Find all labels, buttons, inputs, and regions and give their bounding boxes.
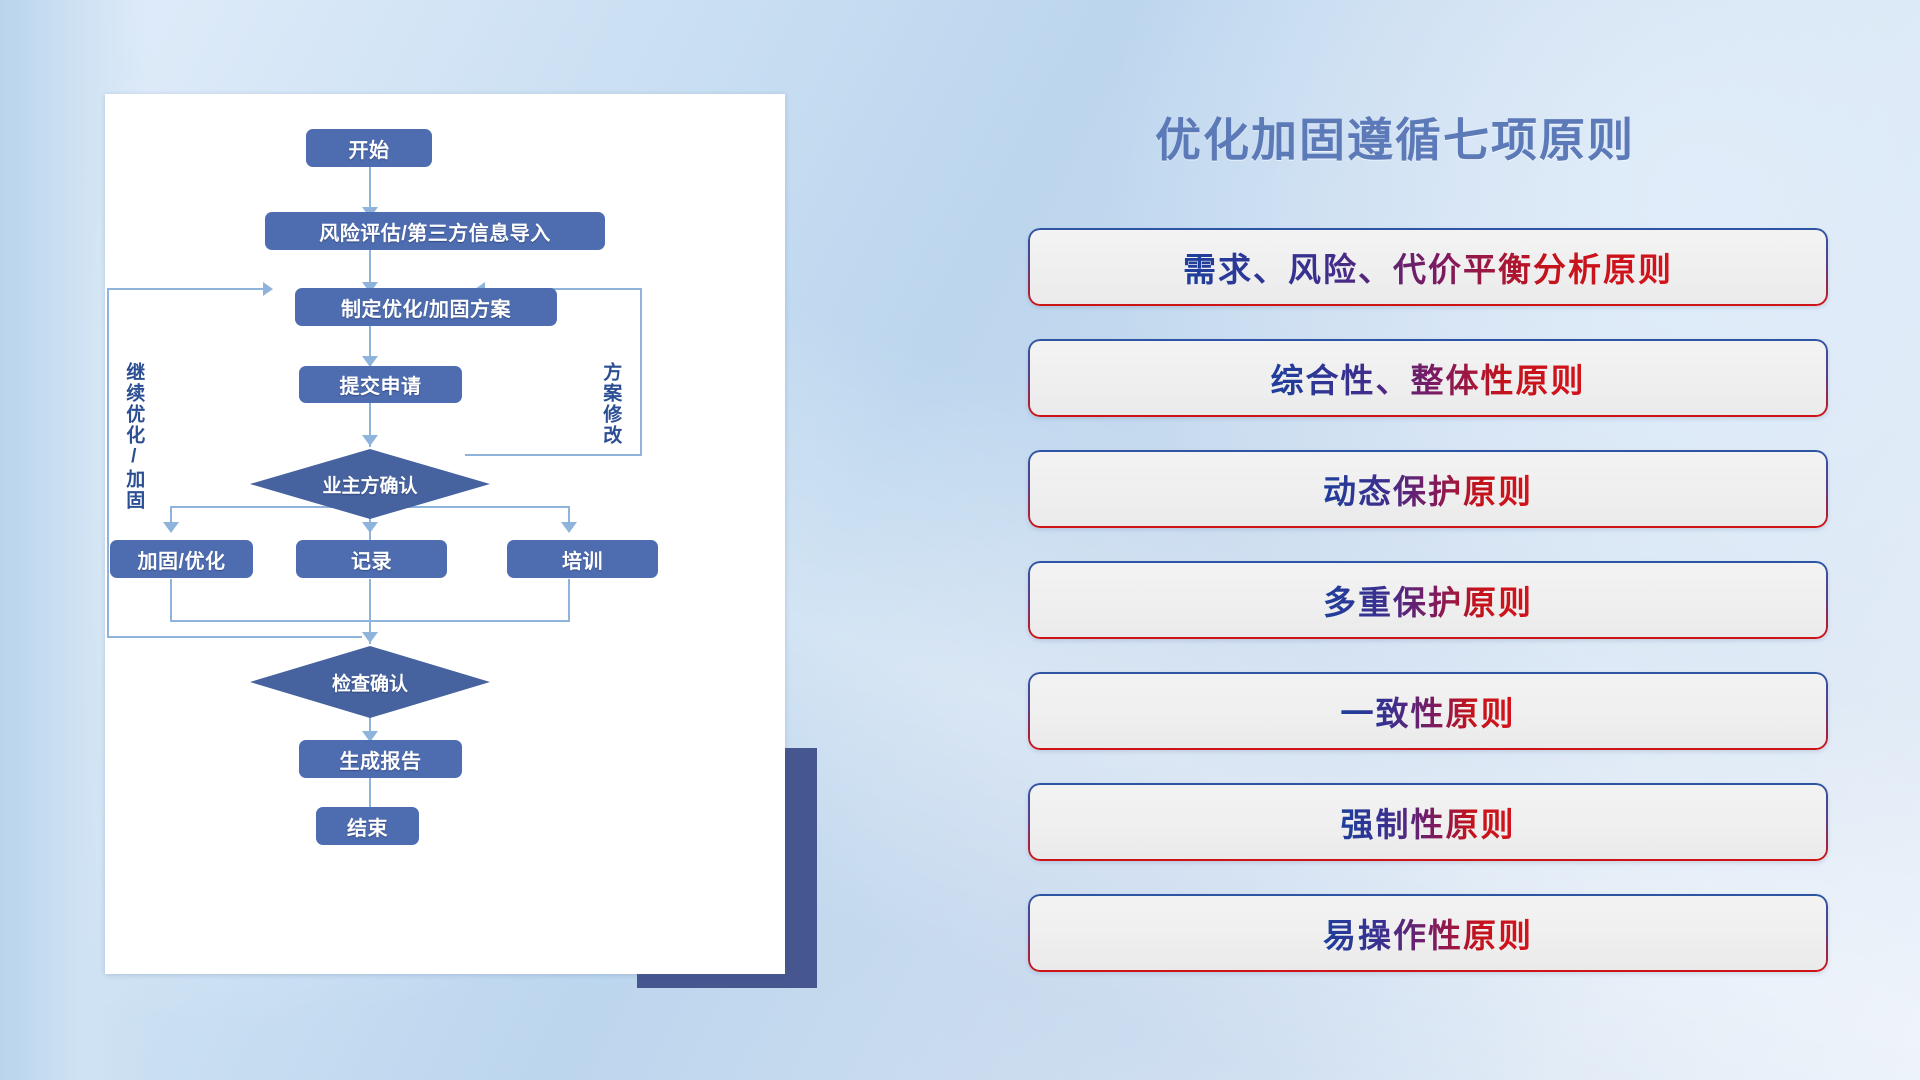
flow-node-label: 加固/优化 — [137, 545, 225, 574]
principle-label: 综合性、整体性原则 — [1271, 354, 1586, 402]
flow-node-label: 制定优化/加固方案 — [341, 293, 511, 322]
edge-label-continue-optimize: 继续优化/加固 — [123, 362, 144, 511]
flowchart: 开始 风险评估/第三方信息导入 制定优化/加固方案 提交申请 业主方确认 加固/… — [105, 94, 785, 974]
arrowhead-train — [561, 522, 577, 533]
flow-node-label: 记录 — [351, 545, 392, 574]
flow-node-training[interactable]: 培训 — [507, 540, 658, 578]
arrowhead-reinforce — [163, 522, 179, 533]
flow-node-label: 提交申请 — [340, 370, 422, 399]
flow-node-label: 培训 — [562, 545, 603, 574]
flow-node-owner-confirm[interactable]: 业主方确认 — [250, 449, 490, 519]
arrowhead-check — [362, 632, 378, 643]
principle-label: 易操作性原则 — [1323, 909, 1533, 957]
panel-title: 优化加固遵循七项原则 — [1155, 104, 1635, 170]
principle-card[interactable]: 需求、风险、代价平衡分析原则 — [1028, 228, 1828, 306]
edge-right-loop-vertical — [640, 288, 642, 455]
edge-label-plan-revision: 方案修改 — [600, 362, 621, 446]
edge-merge-left — [170, 579, 172, 622]
edge-left-loop-bottom — [107, 636, 362, 638]
principle-card[interactable]: 一致性原则 — [1028, 672, 1828, 750]
principle-label: 一致性原则 — [1341, 687, 1516, 735]
flow-node-make-plan[interactable]: 制定优化/加固方案 — [295, 288, 557, 326]
flow-node-label: 结束 — [347, 812, 388, 841]
flow-node-check-confirm[interactable]: 检查确认 — [250, 646, 490, 718]
flow-node-start[interactable]: 开始 — [306, 129, 432, 167]
edge-left-loop-top — [107, 288, 265, 290]
principle-label: 需求、风险、代价平衡分析原则 — [1183, 243, 1673, 291]
flow-node-submit-application[interactable]: 提交申请 — [299, 366, 462, 403]
flow-node-record[interactable]: 记录 — [296, 540, 447, 578]
principles-panel: 优化加固遵循七项原则 需求、风险、代价平衡分析原则 综合性、整体性原则 动态保护… — [1010, 0, 1920, 1080]
flow-node-label: 生成报告 — [340, 745, 422, 774]
flow-node-label: 业主方确认 — [322, 471, 417, 498]
principle-card[interactable]: 易操作性原则 — [1028, 894, 1828, 972]
principle-label: 强制性原则 — [1341, 798, 1516, 846]
principle-card[interactable]: 强制性原则 — [1028, 783, 1828, 861]
edge-right-loop-bottom — [465, 454, 642, 456]
flow-node-label: 风险评估/第三方信息导入 — [319, 217, 551, 246]
arrowhead-record — [362, 522, 378, 533]
flow-node-reinforce-optimize[interactable]: 加固/优化 — [110, 540, 253, 578]
principle-card[interactable]: 动态保护原则 — [1028, 450, 1828, 528]
edge-left-loop-vertical — [107, 288, 109, 638]
flow-node-end[interactable]: 结束 — [316, 807, 419, 845]
principles-list: 需求、风险、代价平衡分析原则 综合性、整体性原则 动态保护原则 多重保护原则 一… — [1028, 228, 1828, 1005]
principle-label: 动态保护原则 — [1323, 465, 1533, 513]
flow-node-risk-assessment[interactable]: 风险评估/第三方信息导入 — [265, 212, 605, 250]
arrowhead-plan-left — [263, 282, 273, 296]
arrowhead-owner — [362, 435, 378, 446]
flow-node-label: 检查确认 — [332, 669, 408, 696]
flow-node-label: 开始 — [349, 134, 390, 163]
edge-merge-right — [568, 579, 570, 622]
principle-card[interactable]: 多重保护原则 — [1028, 561, 1828, 639]
principle-label: 多重保护原则 — [1323, 576, 1533, 624]
flow-node-generate-report[interactable]: 生成报告 — [299, 740, 462, 778]
principle-card[interactable]: 综合性、整体性原则 — [1028, 339, 1828, 417]
